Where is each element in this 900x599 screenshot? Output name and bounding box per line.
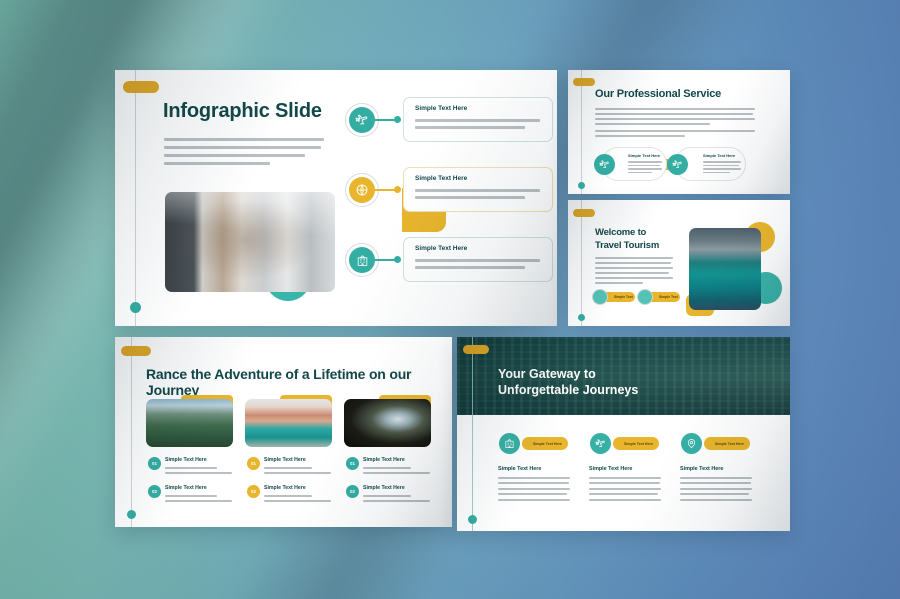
row-badge: 01 bbox=[346, 457, 359, 470]
card-title: Simple Text Here bbox=[415, 105, 467, 112]
rail-dot bbox=[578, 314, 585, 321]
column-text bbox=[680, 477, 752, 501]
circle-icon[interactable] bbox=[592, 289, 608, 305]
body-paragraph bbox=[595, 257, 673, 284]
rail-dot bbox=[130, 302, 141, 313]
info-card[interactable]: Simple Text Here bbox=[403, 97, 553, 142]
row-title: Simple Text Here bbox=[165, 485, 207, 491]
card-title: Simple Text Here bbox=[703, 153, 735, 158]
left-rail bbox=[472, 337, 473, 531]
slide3-photo bbox=[689, 228, 761, 310]
page-title: Infographic Slide bbox=[163, 100, 322, 123]
rail-dot bbox=[127, 510, 136, 519]
globe-map-icon[interactable] bbox=[349, 177, 375, 203]
row-badge: 02 bbox=[346, 485, 359, 498]
slide-welcome-travel-tourism[interactable]: Welcome to Travel Tourism Simple Text Si… bbox=[568, 200, 790, 326]
column-button-label: Simple Text Here bbox=[624, 442, 653, 446]
card-text bbox=[703, 161, 741, 173]
slide-your-gateway[interactable]: Your Gateway to Unforgettable Journeys S… bbox=[457, 337, 790, 531]
cta-button-2-label: Simple Text bbox=[659, 295, 678, 299]
row-title: Simple Text Here bbox=[264, 457, 306, 463]
page-title: Our Professional Service bbox=[595, 88, 721, 100]
left-rail bbox=[131, 337, 132, 527]
card-title: Simple Text Here bbox=[415, 245, 467, 252]
card-text bbox=[415, 259, 540, 269]
row-text bbox=[363, 495, 430, 502]
slide1-photo bbox=[165, 192, 335, 292]
pill-tab bbox=[573, 78, 595, 86]
row-badge: 02 bbox=[247, 485, 260, 498]
card-title: Simple Text Here bbox=[628, 153, 660, 158]
left-rail bbox=[581, 200, 582, 326]
column-title: Simple Text Here bbox=[680, 466, 723, 472]
body-paragraph-1 bbox=[595, 108, 755, 125]
cta-button-1-label: Simple Text bbox=[614, 295, 633, 299]
column-button-label: Simple Text Here bbox=[533, 442, 562, 446]
row-text bbox=[264, 495, 331, 502]
card-title: Simple Text Here bbox=[415, 175, 467, 182]
airplane-icon[interactable] bbox=[594, 154, 615, 175]
airplane-icon[interactable] bbox=[349, 107, 375, 133]
hero-title-line-2: Unforgettable Journeys bbox=[498, 383, 638, 397]
row-title: Simple Text Here bbox=[363, 485, 405, 491]
row-title: Simple Text Here bbox=[165, 457, 207, 463]
page-title: Rance the Adventure of a Lifetime on our… bbox=[146, 366, 452, 398]
row-title: Simple Text Here bbox=[264, 485, 306, 491]
column-photo bbox=[146, 399, 233, 447]
card-text bbox=[415, 119, 540, 129]
airplane-icon[interactable] bbox=[590, 433, 611, 454]
row-badge: 02 bbox=[148, 485, 161, 498]
connector-dot bbox=[394, 256, 401, 263]
column-photo bbox=[245, 399, 332, 447]
slide-professional-service[interactable]: Our Professional Service Simple Text Her… bbox=[568, 70, 790, 194]
pill-tab bbox=[573, 209, 595, 217]
column-title: Simple Text Here bbox=[498, 466, 541, 472]
column-button[interactable]: Simple Text Here bbox=[522, 437, 568, 450]
rail-dot bbox=[468, 515, 477, 524]
pill-tab bbox=[123, 81, 159, 93]
pill-tab bbox=[121, 346, 151, 356]
circle-icon[interactable] bbox=[637, 289, 653, 305]
airplane-icon[interactable] bbox=[667, 154, 688, 175]
column-text bbox=[498, 477, 570, 501]
slide-infographic[interactable]: Infographic Slide Simple Text Here bbox=[115, 70, 557, 326]
presentation-mockup-canvas: Infographic Slide Simple Text Here bbox=[0, 0, 900, 599]
page-title-line-2: Travel Tourism bbox=[595, 239, 659, 252]
connector-dot bbox=[394, 186, 401, 193]
row-badge: 01 bbox=[148, 457, 161, 470]
left-rail bbox=[135, 70, 136, 326]
row-text bbox=[363, 467, 430, 474]
column-title: Simple Text Here bbox=[589, 466, 632, 472]
card-text bbox=[415, 189, 540, 199]
location-pin-icon[interactable] bbox=[681, 433, 702, 454]
row-text bbox=[165, 495, 232, 502]
left-rail bbox=[581, 70, 582, 194]
row-badge: 01 bbox=[247, 457, 260, 470]
hero-title-line-1: Your Gateway to bbox=[498, 367, 596, 381]
row-text bbox=[165, 467, 232, 474]
column-text bbox=[589, 477, 661, 501]
page-title-line-1: Welcome to bbox=[595, 226, 646, 239]
slide-rance-adventure[interactable]: Rance the Adventure of a Lifetime on our… bbox=[115, 337, 452, 527]
hotel-building-icon[interactable] bbox=[349, 247, 375, 273]
column-photo bbox=[344, 399, 431, 447]
column-button[interactable]: Simple Text Here bbox=[613, 437, 659, 450]
pill-tab bbox=[463, 345, 489, 354]
body-paragraph-2 bbox=[595, 130, 755, 137]
card-text bbox=[628, 161, 662, 173]
body-paragraph bbox=[164, 138, 324, 165]
hotel-building-icon[interactable] bbox=[499, 433, 520, 454]
row-title: Simple Text Here bbox=[363, 457, 405, 463]
info-card[interactable]: Simple Text Here bbox=[403, 167, 553, 212]
column-button-label: Simple Text Here bbox=[715, 442, 744, 446]
info-card[interactable]: Simple Text Here bbox=[403, 237, 553, 282]
rail-dot bbox=[578, 182, 585, 189]
connector-dot bbox=[394, 116, 401, 123]
row-text bbox=[264, 467, 331, 474]
column-button[interactable]: Simple Text Here bbox=[704, 437, 750, 450]
